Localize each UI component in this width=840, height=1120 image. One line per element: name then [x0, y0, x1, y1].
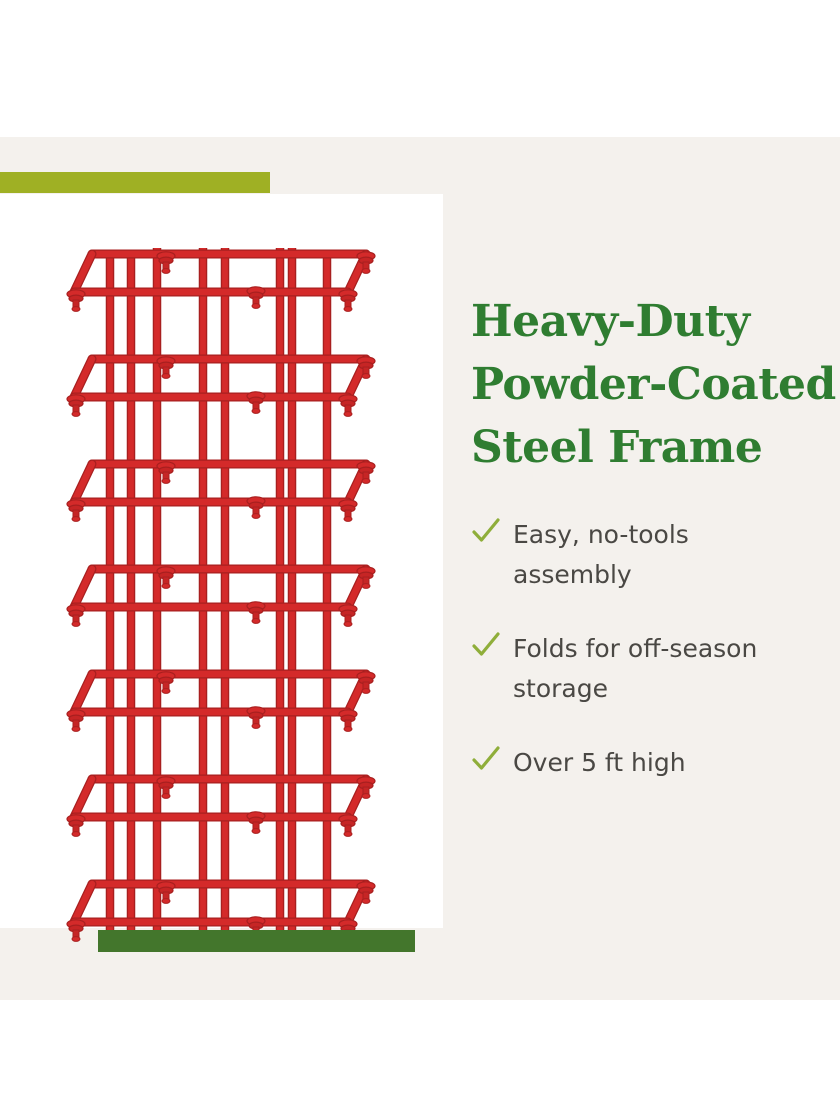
- copy-column: Heavy-Duty Powder-Coated Steel Frame Eas…: [471, 290, 821, 783]
- list-item: Easy, no-tools assembly: [471, 515, 821, 595]
- tomato-cage-trellis-image: [60, 240, 380, 940]
- green-accent-bar: [98, 930, 415, 952]
- list-item: Over 5 ft high: [471, 743, 821, 783]
- page-title: Heavy-Duty Powder-Coated Steel Frame: [471, 290, 821, 479]
- check-icon: [471, 745, 501, 775]
- headline-line-1: Heavy-Duty: [471, 290, 821, 353]
- feature-label: Folds for off-season storage: [513, 629, 775, 709]
- feature-label: Over 5 ft high: [513, 743, 686, 783]
- headline-line-3: Steel Frame: [471, 416, 821, 479]
- feature-list: Easy, no-tools assembly Folds for off-se…: [471, 515, 821, 783]
- headline-line-2: Powder-Coated: [471, 353, 821, 416]
- lime-accent-bar: [0, 172, 270, 193]
- check-icon: [471, 631, 501, 661]
- trellis-legs: [110, 248, 327, 940]
- check-icon: [471, 517, 501, 547]
- product-feature-card: Heavy-Duty Powder-Coated Steel Frame Eas…: [0, 0, 840, 1120]
- list-item: Folds for off-season storage: [471, 629, 821, 709]
- feature-label: Easy, no-tools assembly: [513, 515, 775, 595]
